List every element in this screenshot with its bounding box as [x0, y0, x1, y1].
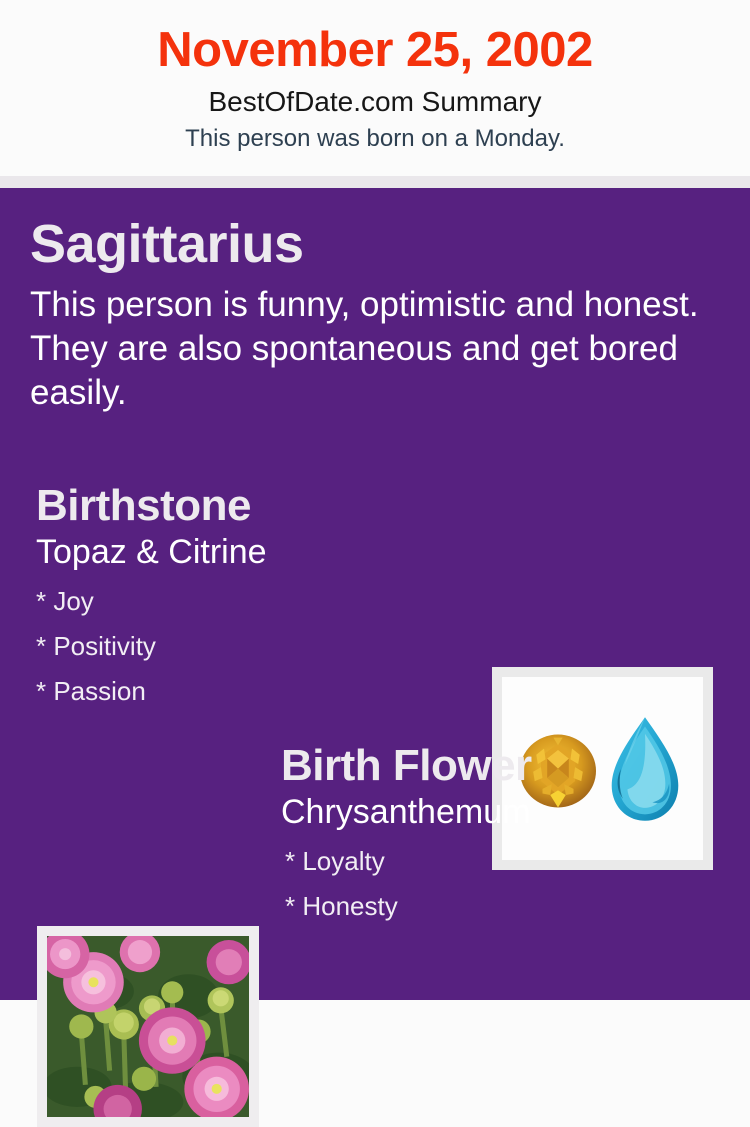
birth-flower-name: Chrysanthemum — [281, 791, 731, 833]
page-header: November 25, 2002 BestOfDate.com Summary… — [0, 0, 750, 176]
list-item: * Honesty — [281, 884, 731, 929]
summary-page: November 25, 2002 BestOfDate.com Summary… — [0, 0, 750, 1000]
birth-flower-section: Birth Flower Chrysanthemum * Loyalty * H… — [281, 741, 731, 929]
page-title: November 25, 2002 — [0, 22, 750, 78]
list-item: * Loyalty — [281, 839, 731, 884]
birthstone-heading: Birthstone — [36, 481, 476, 531]
birthstone-section: Birthstone Topaz & Citrine * Joy * Posit… — [36, 481, 476, 714]
birthstone-trait-list: * Joy * Positivity * Passion — [36, 579, 476, 714]
list-item: * Passion — [36, 669, 476, 714]
zodiac-sign-heading: Sagittarius — [30, 214, 304, 274]
chrysanthemum-photo-icon — [47, 936, 249, 1117]
born-day-text: This person was born on a Monday. — [0, 123, 750, 155]
birthstone-name: Topaz & Citrine — [36, 531, 476, 573]
zodiac-panel: Sagittarius This person is funny, optimi… — [0, 188, 750, 1000]
birth-flower-trait-list: * Loyalty * Honesty — [281, 839, 731, 929]
site-summary-subtitle: BestOfDate.com Summary — [0, 84, 750, 120]
list-item: * Positivity — [36, 624, 476, 669]
birth-flower-image-frame — [37, 926, 259, 1127]
birth-flower-heading: Birth Flower — [281, 741, 731, 791]
birth-flower-image — [47, 936, 249, 1117]
zodiac-description: This person is funny, optimistic and hon… — [30, 283, 725, 415]
list-item: * Joy — [36, 579, 476, 624]
header-divider — [0, 176, 750, 188]
